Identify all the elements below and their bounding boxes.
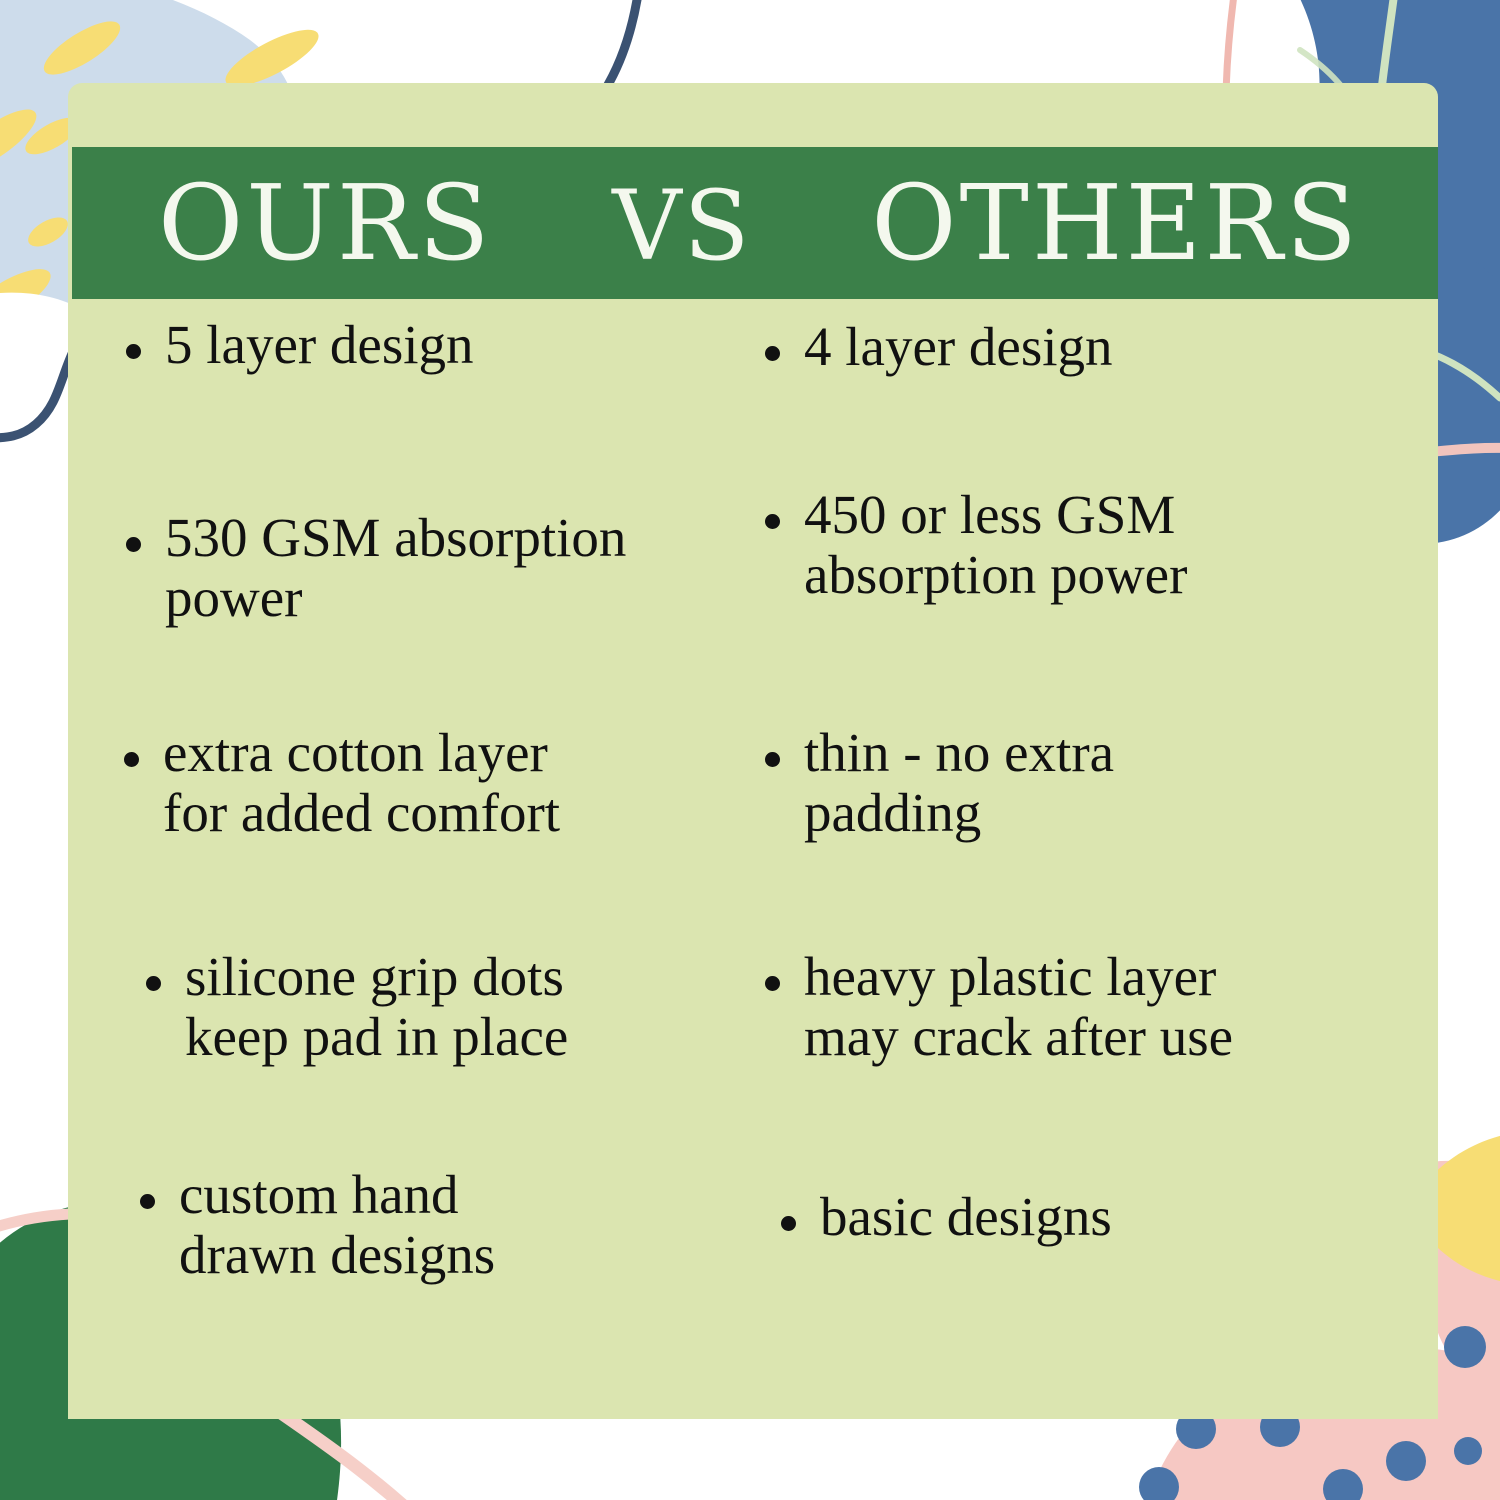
comparison-columns: 5 layer design 530 GSM absorption power … [68, 315, 1438, 1419]
polka-dot [1323, 1469, 1363, 1500]
bullet-dot-icon [781, 1216, 796, 1231]
list-item-label: 530 GSM absorption power [165, 508, 626, 628]
yellow-dash-4 [0, 259, 58, 333]
bullet-dot-icon [765, 752, 780, 767]
list-item: heavy plastic layer may crack after use [765, 947, 1233, 1067]
bullet-dot-icon [765, 976, 780, 991]
list-item-label: basic designs [820, 1187, 1112, 1247]
list-item-label: silicone grip dots keep pad in place [185, 947, 568, 1067]
list-item: 450 or less GSM absorption power [765, 485, 1187, 605]
list-item: custom hand drawn designs [140, 1165, 495, 1285]
bullet-dot-icon [765, 514, 780, 529]
list-item-label: custom hand drawn designs [179, 1165, 495, 1285]
comparison-card: OURS VS OTHERS 5 layer design 530 GSM ab… [68, 83, 1438, 1419]
bullet-dot-icon [126, 537, 141, 552]
list-item: thin - no extra padding [765, 723, 1114, 843]
bullet-dot-icon [126, 344, 141, 359]
list-item: silicone grip dots keep pad in place [146, 947, 568, 1067]
list-item-label: thin - no extra padding [804, 723, 1114, 843]
header-ours: OURS [158, 171, 492, 275]
list-item-label: extra cotton layer for added comfort [163, 723, 560, 843]
yellow-dash-1 [37, 12, 128, 84]
yellow-dash-7 [0, 405, 40, 475]
list-item: basic designs [781, 1187, 1112, 1247]
others-column: 4 layer design 450 or less GSM absorptio… [753, 315, 1438, 1419]
header-title-row: OURS VS OTHERS [72, 171, 1438, 275]
list-item-label: 450 or less GSM absorption power [804, 485, 1187, 605]
poster-canvas: OURS VS OTHERS 5 layer design 530 GSM ab… [0, 0, 1500, 1500]
polka-dot [1454, 1437, 1482, 1465]
polka-dot [1444, 1326, 1486, 1368]
bullet-dot-icon [765, 346, 780, 361]
list-item-label: heavy plastic layer may crack after use [804, 947, 1233, 1067]
list-item: extra cotton layer for added comfort [124, 723, 560, 843]
bullet-dot-icon [146, 976, 161, 991]
ours-column: 5 layer design 530 GSM absorption power … [68, 315, 753, 1419]
pink-line-right-mid [1430, 448, 1500, 452]
yellow-dash-8 [17, 333, 75, 379]
list-item-label: 5 layer design [165, 315, 474, 375]
yellow-dash-6 [23, 211, 72, 252]
header-banner: OURS VS OTHERS [72, 147, 1438, 299]
pink-blob-bottom-right-upper [1430, 1161, 1500, 1420]
header-vs: VS [612, 178, 751, 274]
list-item: 4 layer design [765, 317, 1113, 377]
list-item: 5 layer design [126, 315, 474, 375]
bullet-dot-icon [124, 752, 139, 767]
polka-dot [1386, 1441, 1426, 1481]
list-item-label: 4 layer design [804, 317, 1113, 377]
yellow-dash-2 [0, 99, 44, 180]
polka-dot [1139, 1467, 1179, 1500]
list-item: 530 GSM absorption power [126, 508, 626, 628]
bullet-dot-icon [140, 1194, 155, 1209]
header-others: OTHERS [871, 171, 1360, 275]
